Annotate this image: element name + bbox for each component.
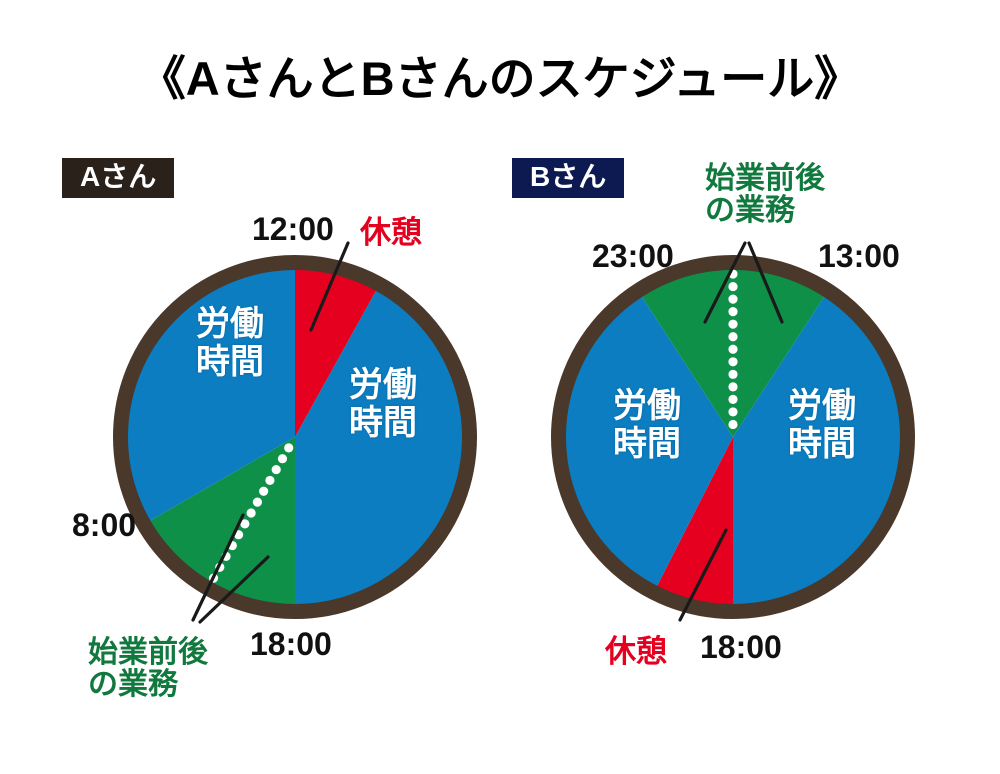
slice-label-b-work-right: 労働 時間: [788, 387, 856, 463]
callout-b-prepost: 始業前後 の業務: [705, 163, 825, 227]
time-label-b-1300: 13:00: [818, 240, 900, 274]
slice-label-line1: 労働: [788, 387, 856, 425]
time-label-b-2300: 23:00: [592, 240, 674, 274]
callout-line1: 始業前後: [705, 163, 825, 195]
dotted-bisector-dot: [728, 395, 737, 404]
slice-label-b-work-left: 労働 時間: [613, 387, 681, 463]
dotted-bisector-dot: [728, 357, 737, 366]
dotted-bisector-dot: [728, 345, 737, 354]
dotted-bisector-dot: [728, 420, 737, 429]
slice-label-line2: 時間: [613, 425, 681, 463]
dotted-bisector-dot: [728, 307, 737, 316]
dotted-bisector-dot: [728, 320, 737, 329]
dotted-bisector-dot: [728, 382, 737, 391]
slice-label-line2: 時間: [788, 425, 856, 463]
dotted-bisector-dot: [728, 370, 737, 379]
dotted-bisector-dot: [728, 295, 737, 304]
dotted-bisector-dot: [728, 282, 737, 291]
callout-b-break: 休憩: [605, 636, 667, 669]
slice-label-line1: 労働: [613, 387, 681, 425]
dotted-bisector-dot: [728, 407, 737, 416]
time-label-b-1800: 18:00: [700, 631, 782, 665]
callout-line2: の業務: [705, 195, 825, 227]
dotted-bisector-dot: [728, 332, 737, 341]
schedule-infographic: 《AさんとBさんのスケジュール》 Aさん 労働 時間 労働 時間 12:00 8…: [0, 0, 1000, 774]
